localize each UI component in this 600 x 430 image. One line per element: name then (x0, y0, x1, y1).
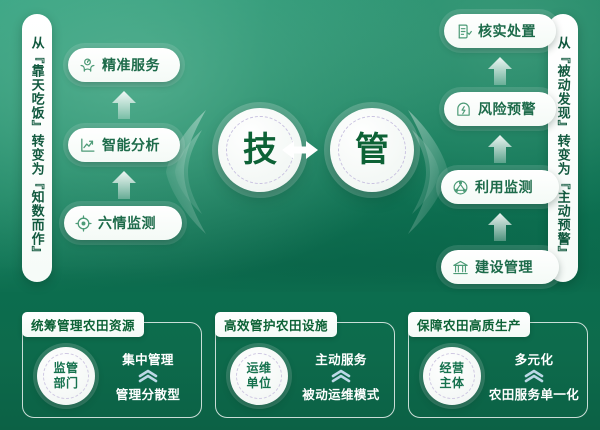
card-role-circle: 运维 单位 (230, 347, 288, 405)
up-arrow-left-2 (111, 170, 137, 200)
bottom-card-facility-maintenance[interactable]: 高效管护农田设施 运维 单位 主动服务 被动运维模式 (215, 322, 395, 418)
card-role-line1: 运维 (246, 361, 271, 376)
card-to-state: 主动服务 (315, 349, 367, 368)
card-transition: 主动服务 被动运维模式 (296, 347, 386, 405)
chevron-up-icon (330, 369, 352, 383)
card-role-line2: 主体 (439, 376, 464, 391)
pill-label: 建设管理 (475, 257, 533, 277)
pill-construction-management[interactable]: 建设管理 (441, 250, 559, 284)
card-from-state: 农田服务单一化 (489, 384, 579, 403)
card-title: 保障农田高质生产 (408, 312, 530, 337)
card-transition: 集中管理 管理分散型 (103, 347, 193, 405)
card-from-state: 管理分散型 (116, 384, 181, 403)
pill-label: 精准服务 (102, 55, 160, 75)
left-vertical-banner: 从『靠天吃饭』转变为『知数而作』 (22, 14, 52, 282)
up-arrow-right-1 (487, 56, 513, 86)
card-from-state: 被动运维模式 (302, 384, 379, 403)
core-glyph: 管 (355, 133, 389, 167)
target-monitor-icon (75, 215, 92, 232)
hands-plant-icon (79, 57, 96, 74)
card-role-text: 运维 单位 (246, 361, 271, 391)
right-vertical-banner: 从『被动发现』转变为『主动预警』 (548, 14, 578, 282)
pill-label: 智能分析 (102, 135, 160, 155)
pill-verify-disposal[interactable]: 核实处置 (444, 14, 556, 48)
bank-building-icon (452, 259, 469, 276)
card-role-line1: 经营 (439, 361, 464, 376)
double-arrow-icon (268, 134, 332, 166)
bottom-card-resource-management[interactable]: 统筹管理农田资源 监管 部门 集中管理 管理分散型 (22, 322, 202, 418)
up-arrow-left-1 (111, 90, 137, 120)
card-to-state: 集中管理 (122, 349, 174, 368)
right-banner-text: 从『被动发现』转变为『主动预警』 (554, 26, 571, 270)
card-transition: 多元化 农田服务单一化 (489, 347, 579, 405)
alert-shield-icon (455, 101, 472, 118)
pill-label: 六情监测 (98, 213, 156, 233)
pill-risk-warning[interactable]: 风险预警 (444, 92, 556, 126)
card-role-text: 监管 部门 (53, 361, 78, 391)
bottom-card-quality-production[interactable]: 保障农田高质生产 经营 主体 多元化 农田服务单一化 (408, 322, 588, 418)
pill-precision-service[interactable]: 精准服务 (68, 48, 180, 82)
card-title: 统筹管理农田资源 (22, 312, 144, 337)
pill-label: 风险预警 (478, 99, 536, 119)
core-glyph: 技 (243, 133, 277, 167)
pill-intelligent-analysis[interactable]: 智能分析 (68, 128, 180, 162)
infographic-canvas: 从『靠天吃饭』转变为『知数而作』 从『被动发现』转变为『主动预警』 精准服务 (0, 0, 600, 430)
pill-label: 核实处置 (478, 21, 536, 41)
card-role-line2: 单位 (246, 376, 271, 391)
card-title: 高效管护农田设施 (215, 312, 337, 337)
chevron-up-icon (137, 369, 159, 383)
chart-trend-icon (79, 137, 96, 154)
card-role-circle: 监管 部门 (37, 347, 95, 405)
up-arrow-right-2 (487, 134, 513, 164)
card-to-state: 多元化 (515, 349, 554, 368)
card-role-line2: 部门 (53, 376, 78, 391)
chevron-up-icon (523, 369, 545, 383)
pill-utilization-monitoring[interactable]: 利用监测 (441, 170, 559, 204)
card-role-circle: 经营 主体 (423, 347, 481, 405)
pill-label: 利用监测 (475, 177, 533, 197)
pill-six-condition-monitoring[interactable]: 六情监测 (64, 206, 182, 240)
card-role-line1: 监管 (53, 361, 78, 376)
up-arrow-right-3 (487, 212, 513, 242)
network-nodes-icon (452, 179, 469, 196)
clipboard-check-icon (455, 23, 472, 40)
card-role-text: 经营 主体 (439, 361, 464, 391)
left-banner-text: 从『靠天吃饭』转变为『知数而作』 (28, 26, 45, 270)
core-circle-management[interactable]: 管 (330, 108, 414, 192)
